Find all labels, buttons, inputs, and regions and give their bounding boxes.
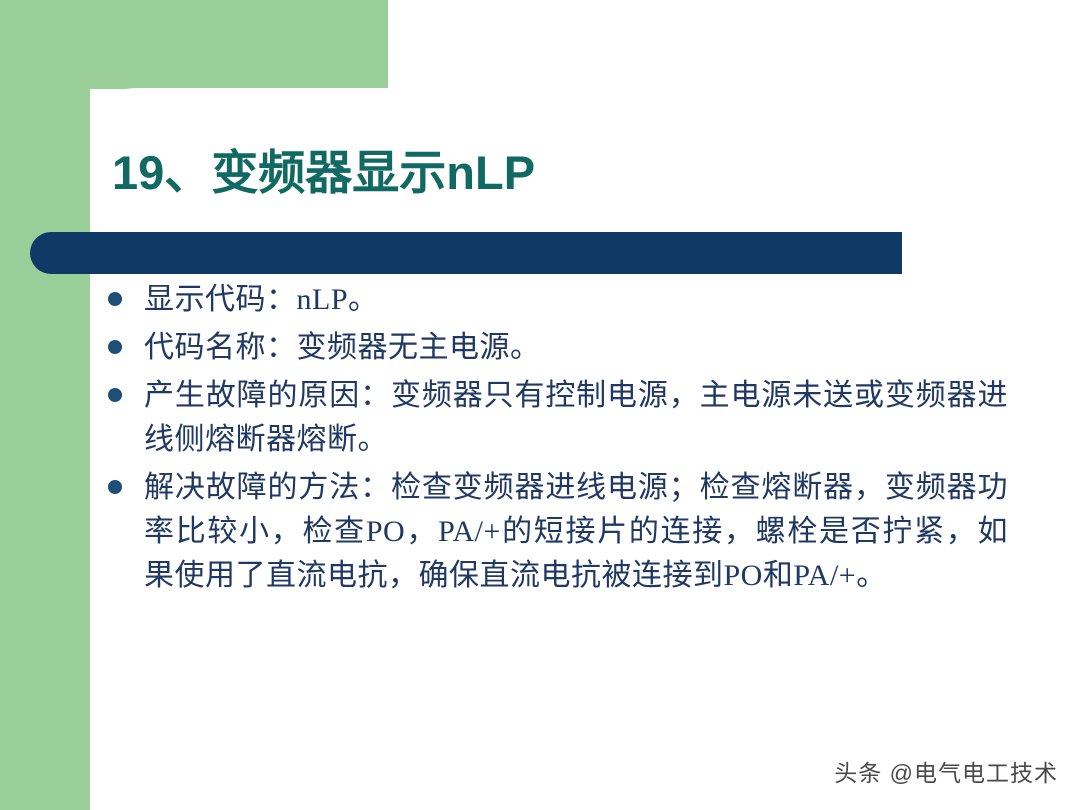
bullet-list: 显示代码：nLP。 代码名称：变频器无主电源。 产生故障的原因：变频器只有控制电… [108, 278, 1008, 602]
watermark-text: 头条 @电气电工技术 [834, 754, 1058, 788]
title-number: 19、 [112, 146, 211, 199]
bullet-text-fault-cause: 产生故障的原因：变频器只有控制电源，主电源未送或变频器进线侧熔断器熔断。 [144, 374, 1008, 462]
bullet-dot-icon [108, 340, 122, 354]
bullet-dot-icon [108, 480, 122, 494]
title-divider-bar [30, 232, 902, 274]
slide-canvas: 19、变频器显示nLP 显示代码：nLP。 代码名称：变频器无主电源。 产生故障… [0, 0, 1080, 810]
green-top-block [0, 0, 388, 89]
bullet-text-display-code: 显示代码：nLP。 [144, 278, 1008, 322]
list-item: 产生故障的原因：变频器只有控制电源，主电源未送或变频器进线侧熔断器熔断。 [108, 374, 1008, 462]
slide-title: 19、变频器显示nLP [112, 138, 972, 212]
title-code: nLP [446, 146, 535, 199]
bullet-dot-icon [108, 292, 122, 306]
list-item: 显示代码：nLP。 [108, 278, 1008, 322]
green-left-strip [0, 0, 90, 810]
bullet-text-code-name: 代码名称：变频器无主电源。 [144, 326, 1008, 370]
title-cjk-text: 变频器显示 [211, 148, 446, 200]
bullet-dot-icon [108, 388, 122, 402]
list-item: 代码名称：变频器无主电源。 [108, 326, 1008, 370]
list-item: 解决故障的方法：检查变频器进线电源；检查熔断器，变频器功率比较小，检查PO，PA… [108, 466, 1008, 598]
bullet-text-fault-solution: 解决故障的方法：检查变频器进线电源；检查熔断器，变频器功率比较小，检查PO，PA… [144, 466, 1008, 598]
